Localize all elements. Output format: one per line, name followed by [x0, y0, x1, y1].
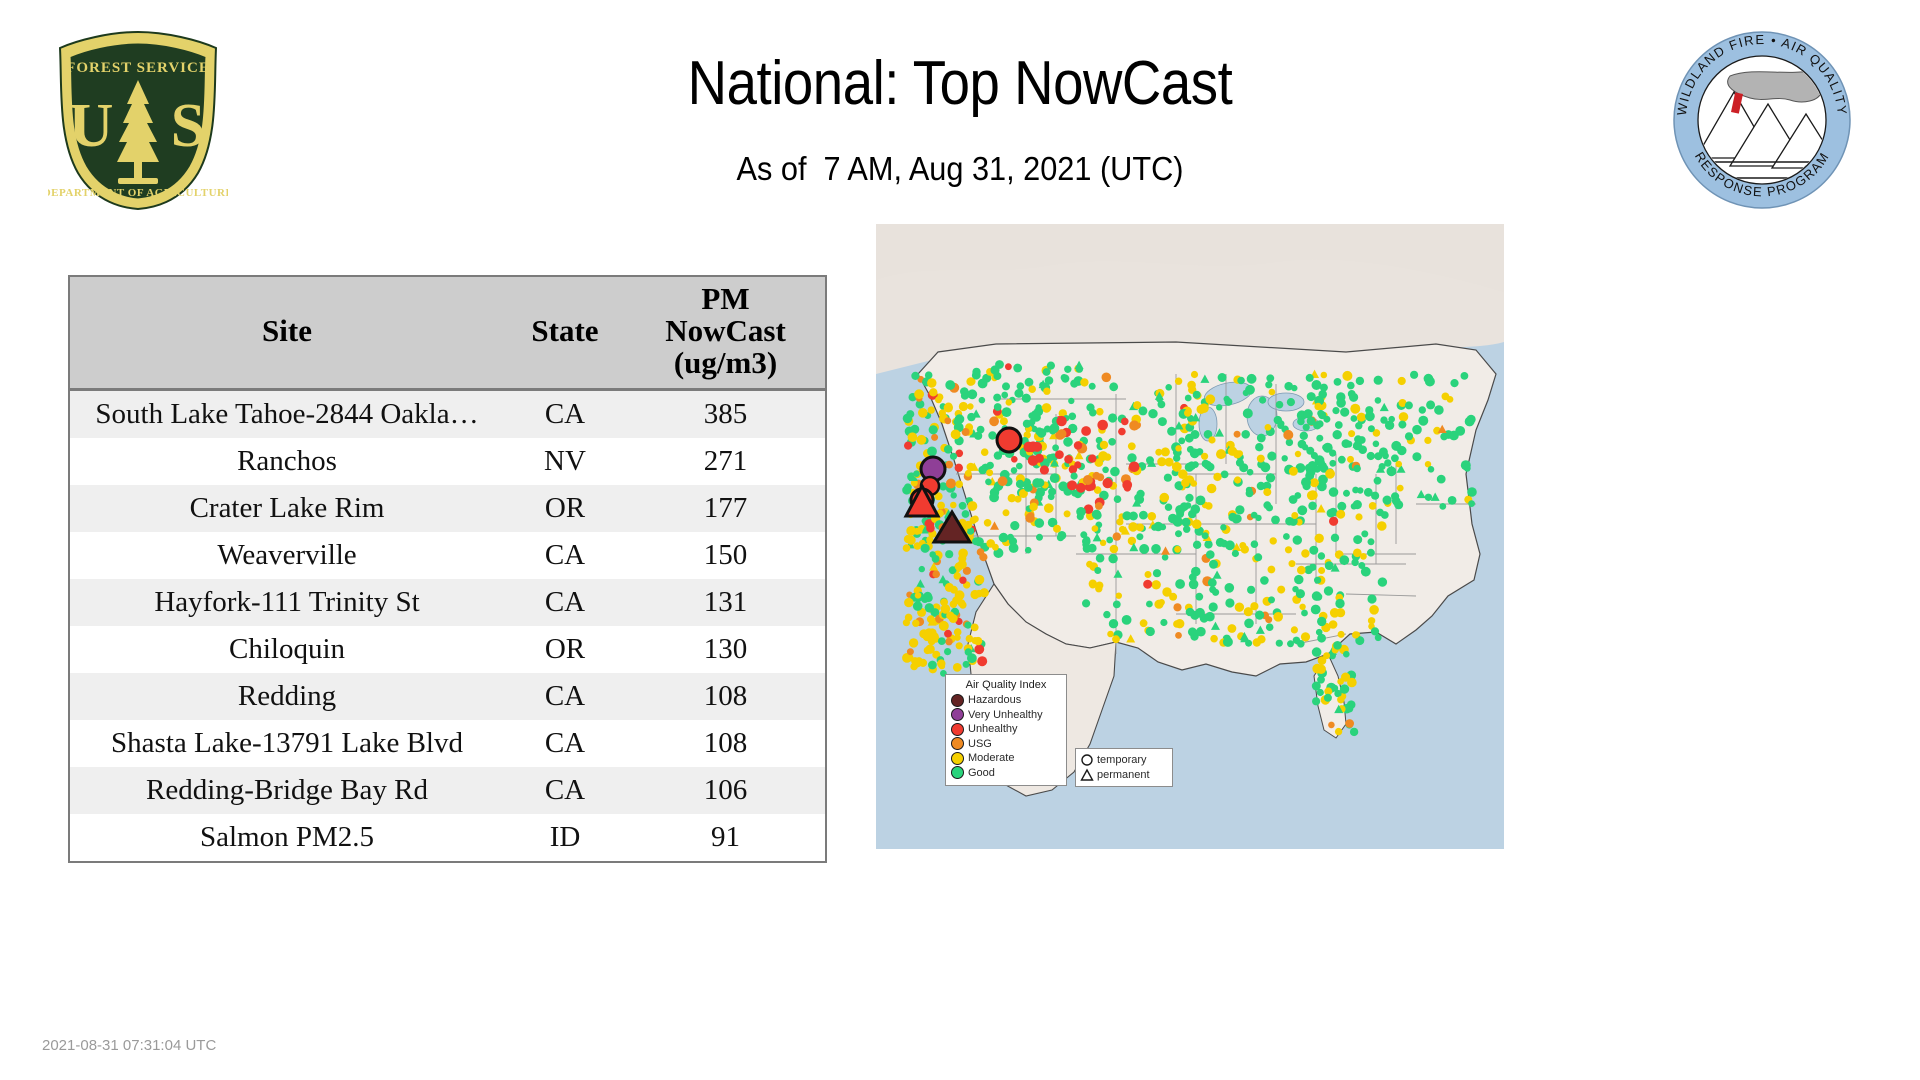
map-monitor-dot[interactable] [1042, 403, 1052, 413]
map-monitor-dot[interactable] [1309, 546, 1318, 555]
map-monitor-dot[interactable] [981, 448, 989, 456]
map-monitor-dot[interactable] [1295, 451, 1301, 457]
map-monitor-dot[interactable] [1191, 567, 1201, 577]
map-monitor-dot[interactable] [1234, 476, 1241, 483]
map-monitor-dot[interactable] [1082, 537, 1091, 546]
map-monitor-dot[interactable] [1255, 611, 1264, 620]
map-monitor-dot[interactable] [928, 406, 935, 413]
map-monitor-dot[interactable] [953, 663, 962, 672]
map-monitor-dot[interactable] [1221, 471, 1229, 479]
map-monitor-dot[interactable] [1035, 518, 1045, 528]
map-monitor-dot[interactable] [1205, 502, 1213, 510]
map-monitor-dot[interactable] [1450, 379, 1458, 387]
map-monitor-dot[interactable] [915, 592, 922, 599]
map-monitor-dot[interactable] [1257, 434, 1266, 443]
map-monitor-dot[interactable] [1449, 431, 1459, 441]
map-monitor-dot[interactable] [958, 549, 968, 559]
map-monitor-dot[interactable] [1028, 385, 1036, 393]
map-monitor-dot[interactable] [912, 620, 919, 627]
map-monitor-dot[interactable] [921, 544, 930, 553]
table-row[interactable]: RanchosNV271 [69, 438, 826, 485]
map-monitor-dot[interactable] [1291, 512, 1298, 519]
map-monitor-dot[interactable] [1225, 598, 1234, 607]
map-monitor-dot[interactable] [1355, 513, 1362, 520]
map-monitor-dot[interactable] [1209, 560, 1218, 569]
map-monitor-dot[interactable] [1167, 427, 1176, 436]
map-monitor-dot[interactable] [974, 637, 982, 645]
map-monitor-dot[interactable] [906, 526, 916, 536]
map-monitor-dot[interactable] [1184, 409, 1191, 416]
map-monitor-dot[interactable] [990, 365, 999, 374]
map-monitor-dot[interactable] [924, 647, 931, 654]
map-monitor-dot[interactable] [1391, 492, 1399, 500]
map-monitor-dot[interactable] [1381, 511, 1389, 519]
map-monitor-dot[interactable] [1016, 463, 1023, 470]
map-monitor-dot[interactable] [937, 659, 945, 667]
map-monitor-dot[interactable] [1067, 480, 1077, 490]
map-monitor-dot[interactable] [1114, 495, 1122, 503]
map-monitor-dot[interactable] [1350, 728, 1358, 736]
map-monitor-dot[interactable] [1164, 474, 1172, 482]
map-monitor-dot[interactable] [1312, 647, 1322, 657]
map-monitor-dot[interactable] [1424, 374, 1434, 384]
map-monitor-dot[interactable] [1057, 534, 1064, 541]
map-monitor-dot[interactable] [1002, 407, 1012, 417]
map-monitor-dot[interactable] [945, 638, 952, 645]
map-monitor-dot[interactable] [1369, 605, 1379, 615]
map-monitor-dot[interactable] [1107, 631, 1114, 638]
map-monitor-dot[interactable] [978, 379, 988, 389]
map-monitor-dot[interactable] [1259, 397, 1266, 404]
map-monitor-dot[interactable] [1118, 428, 1126, 436]
map-monitor-dot[interactable] [974, 644, 984, 654]
map-monitor-dot[interactable] [1100, 441, 1108, 449]
map-monitor-dot[interactable] [1213, 473, 1221, 481]
map-monitor-dot[interactable] [1321, 372, 1328, 379]
map-monitor-dot[interactable] [1347, 382, 1355, 390]
map-monitor-dot[interactable] [1329, 487, 1339, 497]
map-monitor-dot[interactable] [1341, 673, 1350, 682]
map-monitor-dot[interactable] [966, 635, 974, 643]
map-monitor-dot[interactable] [1088, 454, 1096, 462]
map-monitor-dot[interactable] [1136, 523, 1144, 531]
map-monitor-dot[interactable] [1369, 502, 1377, 510]
map-monitor-dot[interactable] [1191, 480, 1198, 487]
map-monitor-dot[interactable] [1316, 629, 1323, 636]
map-monitor-dot[interactable] [1071, 473, 1078, 480]
map-monitor-dot[interactable] [1035, 427, 1043, 435]
map-monitor-dot[interactable] [1028, 455, 1039, 466]
map-monitor-dot[interactable] [1017, 382, 1025, 390]
map-monitor-dot[interactable] [906, 410, 914, 418]
map-monitor-dot[interactable] [1367, 549, 1375, 557]
map-monitor-dot[interactable] [1224, 396, 1230, 402]
map-monitor-dot[interactable] [921, 595, 929, 603]
map-monitor-dot[interactable] [932, 570, 940, 578]
map-monitor-dot[interactable] [968, 501, 978, 511]
map-monitor-dot[interactable] [951, 492, 957, 498]
map-monitor-dot[interactable] [1345, 719, 1354, 728]
column-header-site[interactable]: Site [69, 276, 504, 389]
map-monitor-dot[interactable] [1202, 532, 1209, 539]
map-monitor-dot[interactable] [1343, 490, 1350, 497]
map-monitor-dot[interactable] [1185, 395, 1192, 402]
map-monitor-dot[interactable] [1244, 607, 1253, 616]
map-monitor-dot[interactable] [1128, 442, 1136, 450]
map-monitor-dot[interactable] [1007, 534, 1014, 541]
map-monitor-dot[interactable] [1300, 432, 1308, 440]
map-monitor-dot[interactable] [1425, 494, 1432, 501]
map-monitor-dot[interactable] [1139, 544, 1149, 554]
map-monitor-dot[interactable] [1315, 534, 1324, 543]
map-monitor-dot[interactable] [1368, 425, 1375, 432]
map-monitor-dot[interactable] [1364, 488, 1373, 497]
map-monitor-dot[interactable] [1378, 577, 1387, 586]
map-monitor-dot[interactable] [1289, 560, 1296, 567]
map-monitor-dot[interactable] [1235, 505, 1244, 514]
map-monitor-dot[interactable] [1437, 475, 1446, 484]
map-monitor-dot[interactable] [987, 462, 994, 469]
map-monitor-dot[interactable] [1318, 567, 1325, 574]
map-monitor-dot[interactable] [1140, 619, 1148, 627]
map-monitor-dot[interactable] [927, 447, 937, 457]
map-monitor-dot[interactable] [1001, 392, 1008, 399]
map-monitor-dot[interactable] [909, 638, 918, 647]
map-monitor-dot[interactable] [967, 389, 977, 399]
map-monitor-dot[interactable] [929, 388, 937, 396]
map-monitor-dot[interactable] [1442, 393, 1450, 401]
map-monitor-dot[interactable] [951, 430, 961, 440]
map-monitor-dot[interactable] [1108, 413, 1117, 422]
map-monitor-dot[interactable] [1325, 469, 1335, 479]
map-monitor-dot[interactable] [1209, 602, 1218, 611]
map-monitor-dot[interactable] [1331, 534, 1339, 542]
map-monitor-dot[interactable] [1061, 375, 1069, 383]
map-monitor-dot[interactable] [967, 653, 977, 663]
map-monitor-dot[interactable] [977, 656, 987, 666]
map-monitor-dot[interactable] [1337, 696, 1344, 703]
map-monitor-dot[interactable] [1291, 626, 1298, 633]
map-monitor-dot[interactable] [1182, 518, 1191, 527]
map-monitor-dot[interactable] [986, 469, 993, 476]
map-monitor-dot[interactable] [1134, 494, 1142, 502]
map-monitor-dot[interactable] [1434, 405, 1444, 415]
map-monitor-dot[interactable] [926, 524, 935, 533]
map-monitor-dot[interactable] [1188, 510, 1196, 518]
map-monitor-dot[interactable] [1191, 371, 1198, 378]
map-monitor-dot[interactable] [1112, 635, 1120, 643]
map-monitor-dot[interactable] [1244, 619, 1254, 629]
map-monitor-dot[interactable] [1161, 447, 1170, 456]
map-monitor-dot[interactable] [1329, 508, 1338, 517]
map-monitor-dot[interactable] [989, 493, 999, 503]
map-monitor-dot[interactable] [1191, 430, 1200, 439]
map-monitor-dot[interactable] [1315, 455, 1325, 465]
map-monitor-dot[interactable] [1006, 399, 1013, 406]
map-monitor-dot[interactable] [1399, 412, 1409, 422]
map-monitor-dot[interactable] [907, 536, 916, 545]
map-monitor-dot[interactable] [1468, 500, 1475, 507]
map-monitor-dot[interactable] [1010, 521, 1019, 530]
map-monitor-dot[interactable] [1216, 404, 1222, 410]
map-monitor-dot[interactable] [1267, 452, 1276, 461]
map-monitor-dot[interactable] [1329, 460, 1336, 467]
map-monitor-dot[interactable] [1193, 541, 1201, 549]
map-monitor-dot[interactable] [1081, 426, 1091, 436]
map-monitor-dot[interactable] [1225, 540, 1235, 550]
map-monitor-dot[interactable] [904, 598, 913, 607]
map-monitor-dot[interactable] [1209, 586, 1216, 593]
map-monitor-dot[interactable] [1158, 417, 1167, 426]
map-monitor-dot[interactable] [1110, 467, 1120, 477]
map-monitor-dot[interactable] [1175, 632, 1182, 639]
map-monitor-dot[interactable] [1266, 623, 1274, 631]
map-monitor-dot[interactable] [1080, 378, 1088, 386]
map-monitor-dot[interactable] [958, 560, 967, 569]
map-monitor-dot[interactable] [1283, 430, 1293, 440]
map-monitor-dot[interactable] [1204, 540, 1212, 548]
map-monitor-dot[interactable] [1122, 511, 1131, 520]
map-monitor-dot[interactable] [1439, 503, 1446, 510]
map-monitor-dot[interactable] [1377, 521, 1387, 531]
map-monitor-dot[interactable] [1245, 640, 1252, 647]
map-monitor-dot[interactable] [1316, 435, 1323, 442]
map-monitor-dot[interactable] [1309, 564, 1316, 571]
map-monitor-dot[interactable] [1203, 461, 1212, 470]
map-monitor-dot[interactable] [1013, 364, 1022, 373]
map-monitor-dot[interactable] [959, 601, 966, 608]
map-monitor-dot[interactable] [1094, 567, 1101, 574]
map-monitor-dot[interactable] [1189, 580, 1199, 590]
map-monitor-dot[interactable] [1287, 398, 1295, 406]
map-monitor-dot[interactable] [1158, 599, 1165, 606]
map-monitor-dot[interactable] [945, 461, 953, 469]
map-monitor-dot[interactable] [1325, 561, 1334, 570]
map-monitor-dot[interactable] [1139, 511, 1148, 520]
map-monitor-dot[interactable] [1106, 537, 1113, 544]
map-monitor-dot[interactable] [975, 575, 985, 585]
map-monitor-dot[interactable] [1195, 593, 1203, 601]
map-monitor-dot[interactable] [1011, 456, 1018, 463]
map-monitor-dot[interactable] [1379, 463, 1386, 470]
map-monitor-dot[interactable] [1283, 533, 1290, 540]
map-monitor-dot[interactable] [1069, 413, 1077, 421]
map-monitor-dot[interactable] [967, 403, 973, 409]
map-monitor-dot[interactable] [970, 590, 979, 599]
map-monitor-dot[interactable] [1122, 615, 1132, 625]
map-monitor-dot[interactable] [1410, 371, 1418, 379]
map-monitor-dot[interactable] [1095, 502, 1103, 510]
map-monitor-dot[interactable] [1193, 391, 1201, 399]
map-monitor-dot[interactable] [1276, 401, 1284, 409]
map-monitor-dot[interactable] [1257, 635, 1265, 643]
map-monitor-dot[interactable] [1178, 469, 1188, 479]
map-monitor-dot[interactable] [1308, 502, 1317, 511]
map-monitor-dot[interactable] [1277, 422, 1284, 429]
map-monitor-dot[interactable] [1143, 580, 1152, 589]
table-row[interactable]: Crater Lake RimOR177 [69, 485, 826, 532]
map-monitor-dot[interactable] [1055, 450, 1064, 459]
map-monitor-dot[interactable] [1208, 436, 1215, 443]
map-monitor-dot[interactable] [1405, 401, 1413, 409]
map-monitor-dot[interactable] [1023, 420, 1031, 428]
map-monitor-dot[interactable] [1029, 445, 1036, 452]
map-monitor-dot[interactable] [1289, 467, 1298, 476]
map-monitor-dot[interactable] [1251, 540, 1259, 548]
map-monitor-dot[interactable] [1002, 382, 1010, 390]
map-monitor-dot[interactable] [1338, 631, 1345, 638]
map-monitor-dot[interactable] [938, 637, 946, 645]
map-monitor-dot[interactable] [1178, 437, 1185, 444]
map-monitor-dot[interactable] [1412, 425, 1422, 435]
map-monitor-dot[interactable] [1361, 530, 1368, 537]
map-monitor-dot[interactable] [1301, 477, 1311, 487]
map-monitor-dot[interactable] [1255, 443, 1263, 451]
map-monitor-dot[interactable] [1206, 550, 1215, 559]
map-monitor-dot[interactable] [1174, 546, 1181, 553]
map-monitor-dot[interactable] [994, 403, 1002, 411]
map-monitor-dot[interactable] [1254, 553, 1262, 561]
map-monitor-dot[interactable] [1297, 566, 1306, 575]
map-monitor-dot[interactable] [949, 382, 955, 388]
table-row[interactable]: Redding-Bridge Bay RdCA106 [69, 767, 826, 814]
map-monitor-dot[interactable] [1225, 583, 1235, 593]
map-monitor-dot[interactable] [1036, 534, 1043, 541]
map-monitor-dot[interactable] [1048, 493, 1055, 500]
map-monitor-dot[interactable] [1052, 444, 1059, 451]
map-monitor-dot[interactable] [1398, 377, 1406, 385]
map-monitor-dot[interactable] [1314, 466, 1321, 473]
map-monitor-dot[interactable] [1005, 363, 1012, 370]
map-monitor-dot[interactable] [918, 408, 928, 418]
map-monitor-dot[interactable] [1352, 487, 1359, 494]
map-monitor-dot[interactable] [1102, 467, 1109, 474]
map-monitor-dot[interactable] [1266, 473, 1275, 482]
map-monitor-dot[interactable] [1104, 453, 1111, 460]
map-monitor-dot[interactable] [1257, 482, 1265, 490]
map-monitor-dot[interactable] [1148, 409, 1157, 418]
map-monitor-dot[interactable] [917, 435, 927, 445]
map-monitor-dot[interactable] [1298, 440, 1307, 449]
map-monitor-dot[interactable] [1367, 594, 1376, 603]
map-monitor-dot[interactable] [1293, 535, 1302, 544]
map-monitor-dot[interactable] [1110, 545, 1119, 554]
map-monitor-dot[interactable] [1146, 627, 1155, 636]
map-monitor-dot[interactable] [944, 403, 953, 412]
map-monitor-dot[interactable] [1412, 452, 1421, 461]
map-monitor-dot[interactable] [944, 417, 951, 424]
map-monitor-dot[interactable] [1116, 593, 1122, 599]
map-monitor-dot[interactable] [993, 485, 1000, 492]
map-monitor-dot[interactable] [914, 389, 924, 399]
map-monitor-dot[interactable] [1008, 494, 1016, 502]
map-monitor-dot[interactable] [1122, 480, 1132, 490]
map-monitor-dot[interactable] [1096, 554, 1105, 563]
map-monitor-dot[interactable] [1031, 410, 1039, 418]
map-monitor-dot[interactable] [1330, 608, 1340, 618]
map-monitor-dot[interactable] [939, 621, 949, 631]
map-monitor-dot[interactable] [1145, 571, 1152, 578]
map-monitor-dot[interactable] [1109, 619, 1118, 628]
map-monitor-dot[interactable] [1323, 443, 1333, 453]
map-monitor-dot[interactable] [1148, 512, 1157, 521]
map-monitor-dot[interactable] [1314, 577, 1321, 584]
map-monitor-dot[interactable] [993, 394, 1001, 402]
map-monitor-dot[interactable] [1153, 569, 1161, 577]
map-monitor-dot[interactable] [1351, 415, 1358, 422]
map-monitor-dot[interactable] [1096, 408, 1104, 416]
map-monitor-dot[interactable] [1312, 591, 1322, 601]
map-monitor-dot[interactable] [1282, 455, 1288, 461]
map-monitor-dot[interactable] [1357, 413, 1366, 422]
map-monitor-dot[interactable] [1196, 627, 1206, 637]
map-monitor-dot[interactable] [1374, 477, 1382, 485]
map-monitor-dot[interactable] [1339, 555, 1349, 565]
table-row[interactable]: Salmon PM2.5ID91 [69, 814, 826, 862]
map-monitor-dot[interactable] [1316, 664, 1326, 674]
map-monitor-dot[interactable] [1083, 475, 1093, 485]
map-monitor-dot[interactable] [1047, 362, 1055, 370]
map-monitor-dot[interactable] [902, 486, 911, 495]
map-monitor-dot[interactable] [908, 432, 918, 442]
map-monitor-dot[interactable] [1335, 728, 1342, 735]
map-monitor-dot[interactable] [1388, 416, 1395, 423]
map-monitor-dot[interactable] [1307, 491, 1316, 500]
map-monitor-dot[interactable] [964, 622, 971, 629]
map-monitor-dot[interactable] [928, 661, 937, 670]
map-monitor-dot[interactable] [1371, 627, 1379, 635]
map-monitor-dot[interactable] [1152, 580, 1161, 589]
map-monitor-dot[interactable] [903, 544, 911, 552]
map-monitor-dot[interactable] [1138, 406, 1147, 415]
map-monitor-dot[interactable] [1088, 544, 1097, 553]
map-monitor-dot[interactable] [1196, 496, 1206, 506]
map-monitor-dot[interactable] [955, 464, 963, 472]
map-monitor-dot[interactable] [1157, 457, 1166, 466]
map-monitor-dot[interactable] [1113, 532, 1121, 540]
map-monitor-dot[interactable] [1102, 373, 1112, 383]
map-monitor-dot[interactable] [1266, 504, 1273, 511]
map-monitor-dot[interactable] [1324, 586, 1333, 595]
map-monitor-dot[interactable] [1068, 398, 1074, 404]
map-monitor-dot[interactable] [1185, 502, 1192, 509]
map-monitor-dot[interactable] [1216, 449, 1226, 459]
map-monitor-dot[interactable] [1355, 422, 1362, 429]
map-monitor-dot[interactable] [1173, 603, 1181, 611]
map-monitor-dot[interactable] [1151, 544, 1161, 554]
map-monitor-dot[interactable] [1397, 485, 1404, 492]
map-monitor-dot[interactable] [1292, 586, 1298, 592]
map-monitor-dot[interactable] [907, 648, 914, 655]
map-monitor-dot[interactable] [1334, 378, 1342, 386]
map-monitor-dot[interactable] [904, 442, 912, 450]
map-monitor-dot[interactable] [1380, 416, 1387, 423]
map-monitor-dot[interactable] [1265, 381, 1272, 388]
map-monitor-dot[interactable] [1289, 495, 1298, 504]
map-monitor-dot[interactable] [1337, 502, 1346, 511]
column-header-state[interactable]: State [504, 276, 626, 389]
map-monitor-dot[interactable] [1328, 722, 1335, 729]
map-monitor-dot[interactable] [1025, 547, 1032, 554]
map-monitor-dot[interactable] [960, 387, 969, 396]
map-monitor-dot[interactable] [1097, 420, 1108, 431]
map-monitor-dot[interactable] [919, 659, 927, 667]
map-monitor-dot[interactable] [1108, 554, 1117, 563]
map-monitor-dot[interactable] [1086, 403, 1094, 411]
map-monitor-dot[interactable] [1234, 431, 1241, 438]
map-monitor-dot[interactable] [1175, 530, 1182, 537]
map-monitor-dot[interactable] [1160, 524, 1166, 530]
